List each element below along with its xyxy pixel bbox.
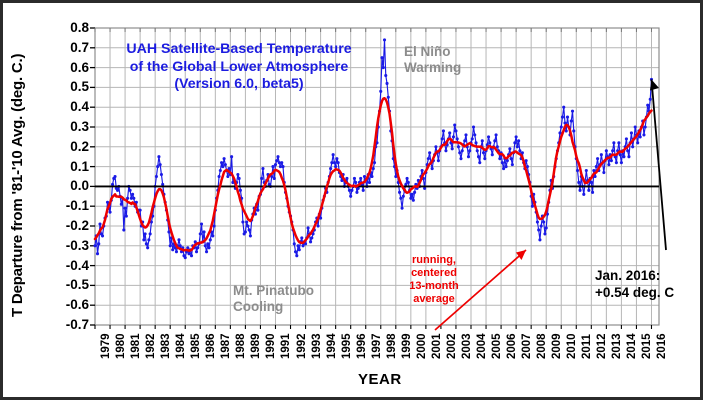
y-tick-label: -0.6 (41, 297, 89, 312)
x-tick-label: 2007 (521, 333, 533, 359)
y-tick-label: 0.5 (41, 79, 89, 94)
x-tick-label: 1980 (115, 333, 127, 359)
el-nino-line-2: Warming (404, 60, 461, 76)
running-average-line-4: average (378, 293, 490, 306)
x-tick-label: 2011 (581, 334, 593, 359)
x-tick-label: 2002 (446, 333, 458, 359)
chart-title-line-1: UAH Satellite-Based Temperature (101, 41, 377, 59)
pinatubo-line-2: Cooling (233, 299, 314, 315)
x-tick-label: 1983 (160, 333, 172, 359)
el-nino-line-1: El Niño (404, 44, 461, 60)
x-axis-title: YEAR (358, 371, 402, 388)
x-tick-label: 1981 (130, 333, 142, 359)
y-tick-label: 0.2 (41, 139, 89, 154)
y-tick-label: 0.1 (41, 159, 89, 174)
y-tick-label: -0.4 (41, 258, 89, 273)
x-tick-label: 1994 (326, 333, 338, 359)
x-tick-label: 1987 (220, 333, 232, 359)
x-tick-label: 2015 (641, 333, 653, 359)
x-tick-label: 2000 (416, 333, 428, 359)
x-tick-label: 2008 (536, 333, 548, 359)
running-average-line-2: centered (378, 267, 490, 280)
y-tick-marks (90, 28, 95, 325)
y-tick-label: -0.5 (41, 277, 89, 292)
final-value-line-1: Jan. 2016: (595, 268, 674, 285)
y-tick-label: 0.8 (41, 20, 89, 35)
x-tick-label: 1997 (371, 333, 383, 359)
chart-title: UAH Satellite-Based Temperature of the G… (101, 41, 377, 94)
y-tick-label: 0.4 (41, 99, 89, 114)
x-tick-label: 1989 (250, 333, 262, 359)
x-tick-label: 1991 (280, 333, 292, 359)
running-average-line-1: running, (378, 254, 490, 267)
chart-title-line-2: of the Global Lower Atmosphere (101, 59, 377, 77)
el-nino-annotation: El Niño Warming (404, 44, 461, 76)
x-tick-label: 1985 (190, 333, 202, 359)
final-value-line-2: +0.54 deg. C (595, 285, 674, 302)
x-tick-label: 1993 (311, 333, 323, 359)
x-tick-label: 2016 (656, 333, 668, 359)
x-tick-label: 1990 (265, 333, 277, 359)
y-tick-label: -0.2 (41, 218, 89, 233)
x-tick-label: 1979 (100, 333, 112, 359)
final-value-leader-arrow (650, 79, 666, 250)
x-tick-label: 2001 (431, 333, 443, 359)
x-tick-label: 1988 (235, 333, 247, 359)
running-average-line-3: 13-month (378, 280, 490, 293)
x-tick-label: 1984 (175, 333, 187, 359)
x-tick-label: 2004 (476, 333, 488, 359)
y-tick-label: -0.3 (41, 238, 89, 253)
chart-title-line-3: (Version 6.0, beta5) (101, 76, 377, 94)
pinatubo-annotation: Mt. Pinatubo Cooling (233, 283, 314, 315)
y-tick-label: -0.7 (41, 317, 89, 332)
y-tick-label: -0.1 (41, 198, 89, 213)
running-average-annotation: running, centered 13-month average (378, 254, 490, 306)
figure-frame: T Departure from '81-'10 Avg. (deg. C.) … (0, 0, 703, 400)
x-tick-label: 2006 (506, 333, 518, 359)
x-tick-label: 1982 (145, 333, 157, 359)
y-tick-label: 0.3 (41, 119, 89, 134)
final-value-annotation: Jan. 2016: +0.54 deg. C (595, 268, 674, 301)
x-tick-label: 1992 (296, 333, 308, 359)
y-axis-title: T Departure from '81-'10 Avg. (deg. C.) (9, 54, 26, 317)
x-tick-label: 2005 (491, 333, 503, 359)
chart-stage: T Departure from '81-'10 Avg. (deg. C.) … (3, 3, 703, 403)
x-tick-label: 1995 (341, 333, 353, 359)
y-tick-label: 0.7 (41, 40, 89, 55)
x-tick-label: 1996 (356, 333, 368, 359)
x-tick-label: 2013 (611, 333, 623, 359)
x-tick-label: 1998 (386, 333, 398, 359)
x-tick-label: 2014 (626, 333, 638, 359)
pinatubo-line-1: Mt. Pinatubo (233, 283, 314, 299)
x-tick-label: 1999 (401, 333, 413, 359)
y-tick-label: 0.0 (41, 178, 89, 193)
x-tick-label: 2012 (596, 333, 608, 359)
x-tick-label: 1986 (205, 333, 217, 359)
x-tick-label: 2010 (566, 333, 578, 359)
x-tick-label: 2003 (461, 333, 473, 359)
x-tick-label: 2009 (551, 333, 563, 359)
y-tick-label: 0.6 (41, 60, 89, 75)
